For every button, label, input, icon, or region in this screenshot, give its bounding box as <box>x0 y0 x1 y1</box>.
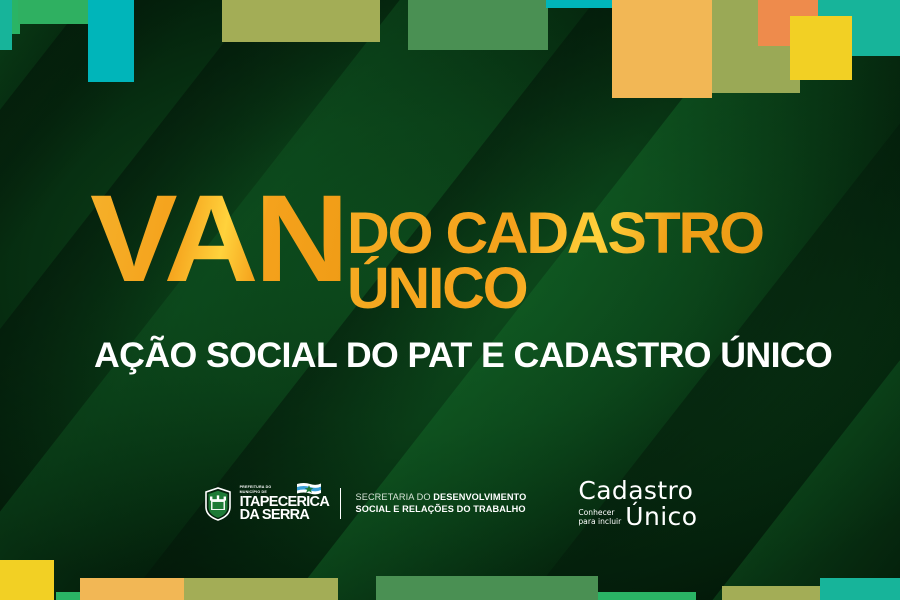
cadastro-unico-tagline: Conhecer para incluir <box>578 509 621 529</box>
van-cadastro-unico-banner: VAN DO CADASTRO ÚNICO AÇÃO SOCIAL DO PAT… <box>0 0 900 600</box>
logo-cadastro-unico: Cadastro Conhecer para incluir Único <box>578 478 697 529</box>
subtitle: AÇÃO SOCIAL DO PAT E CADASTRO ÚNICO <box>94 336 832 376</box>
logo-divider <box>340 488 341 519</box>
logo-strip: PREFEITURA DO MUNICÍPIO DE ITAPECERICA D… <box>0 478 900 529</box>
secretaria-wordmark: SECRETARIA DO DESENVOLVIMENTO SOCIAL E R… <box>355 492 526 516</box>
municipal-flag-icon <box>296 482 322 497</box>
coat-of-arms-icon <box>203 487 233 521</box>
headline-line-unico: ÚNICO <box>347 261 763 316</box>
cadastro-unico-word1: Cadastro <box>578 478 697 503</box>
logo-prefeitura-itapecerica: PREFEITURA DO MUNICÍPIO DE ITAPECERICA D… <box>203 485 527 523</box>
prefeitura-wordmark: PREFEITURA DO MUNICÍPIO DE ITAPECERICA D… <box>240 485 330 523</box>
secretaria-line1: SECRETARIA DO DESENVOLVIMENTO <box>355 492 526 504</box>
secretaria-line1-bold: DESENVOLVIMENTO <box>433 492 526 502</box>
secretaria-line1-light: SECRETARIA DO <box>355 492 430 502</box>
headline-subject: DO CADASTRO ÚNICO <box>347 206 763 316</box>
headline-van: VAN <box>90 188 345 291</box>
prefeitura-name-line2: DA SERRA <box>240 509 330 522</box>
cadastro-unico-tagline-line2: para incluir <box>578 518 621 527</box>
secretaria-line2: SOCIAL E RELAÇÕES DO TRABALHO <box>355 504 526 516</box>
secretaria-line2-bold: SOCIAL E RELAÇÕES DO TRABALHO <box>355 504 525 514</box>
headline: VAN DO CADASTRO ÚNICO <box>90 186 754 316</box>
cadastro-unico-word2: Único <box>625 504 697 529</box>
